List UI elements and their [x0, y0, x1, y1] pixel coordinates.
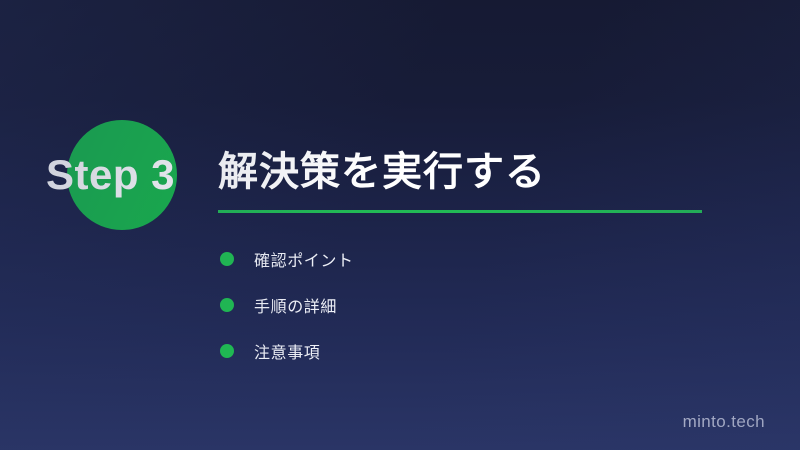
bullet-dot-icon	[220, 298, 234, 312]
list-item-label: 注意事項	[254, 339, 320, 363]
bullet-dot-icon	[220, 252, 234, 266]
bullet-dot-icon	[220, 344, 234, 358]
presentation-slide: Step 3 解決策を実行する 確認ポイント 手順の詳細 注意事項 minto.…	[0, 0, 800, 450]
step-badge-label: Step 3	[46, 149, 236, 201]
footer-brand: minto.tech	[683, 412, 765, 432]
list-item: 手順の詳細	[220, 282, 354, 328]
slide-title: 解決策を実行する	[218, 146, 546, 198]
bullet-list: 確認ポイント 手順の詳細 注意事項	[220, 236, 354, 374]
title-divider	[218, 210, 702, 213]
list-item: 注意事項	[220, 328, 354, 374]
list-item-label: 手順の詳細	[254, 293, 337, 317]
list-item: 確認ポイント	[220, 236, 354, 282]
list-item-label: 確認ポイント	[254, 247, 354, 271]
